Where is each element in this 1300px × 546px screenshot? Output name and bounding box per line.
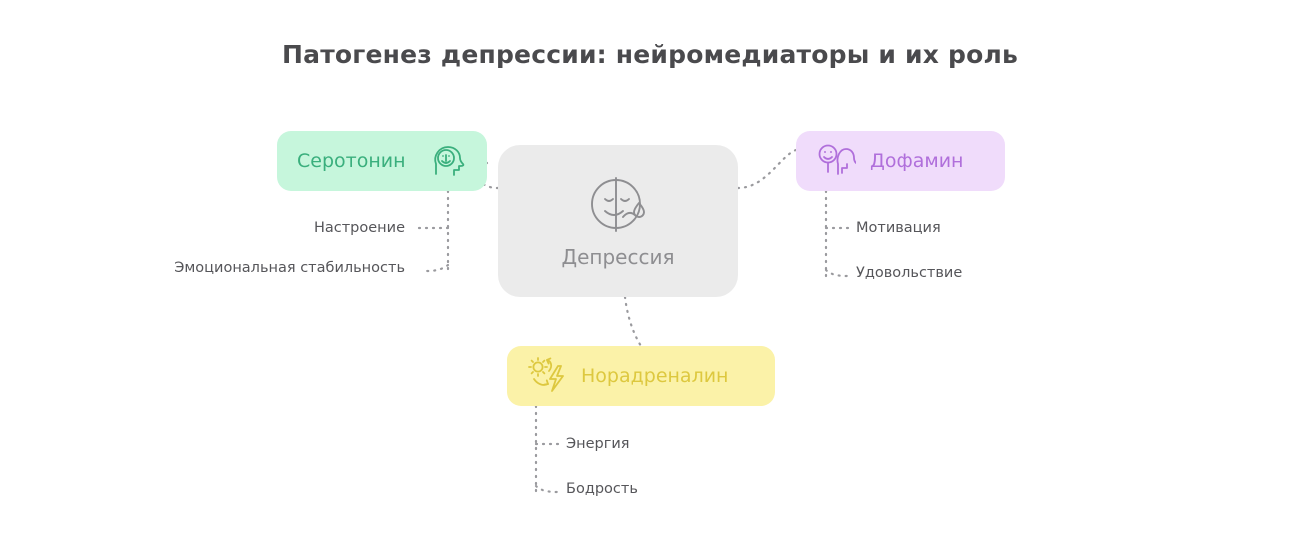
node-depression[interactable]: Депрессия: [498, 145, 738, 297]
node-dopamine[interactable]: Дофамин: [796, 131, 1005, 191]
split-face-sad-happy-icon: [585, 173, 651, 235]
edge-noradrenalin-leaf-2: [536, 486, 560, 492]
leaf-noradrenalin-vigor[interactable]: Бодрость: [566, 482, 638, 497]
node-depression-label: Депрессия: [561, 245, 674, 269]
leaf-noradrenalin-energy[interactable]: Энергия: [566, 437, 630, 452]
edge-center-dopamine: [738, 150, 796, 188]
node-serotonin[interactable]: Серотонин: [277, 131, 487, 191]
node-noradrenalin[interactable]: Норадреналин: [507, 346, 775, 406]
leaf-dopamine-pleasure[interactable]: Удовольствие: [856, 266, 962, 281]
node-noradrenalin-label: Норадреналин: [581, 365, 728, 387]
edge-serotonin-leaf-2: [424, 265, 448, 271]
leaf-serotonin-stability[interactable]: Эмоциональная стабильность: [174, 261, 405, 276]
sun-lightning-icon: [525, 355, 569, 397]
edge-center-noradrenalin: [625, 297, 641, 346]
leaf-serotonin-mood[interactable]: Настроение: [314, 221, 405, 236]
edge-dopamine-leaf-2: [826, 270, 850, 276]
mindmap-canvas: Патогенез депрессии: нейромедиаторы и их…: [0, 0, 1300, 546]
head-with-face-icon: [429, 142, 467, 180]
page-title: Патогенез депрессии: нейромедиаторы и их…: [0, 40, 1300, 69]
node-serotonin-label: Серотонин: [297, 150, 406, 172]
head-with-smiley-icon: [816, 141, 856, 181]
leaf-dopamine-motivation[interactable]: Мотивация: [856, 221, 941, 236]
node-dopamine-label: Дофамин: [870, 150, 963, 172]
